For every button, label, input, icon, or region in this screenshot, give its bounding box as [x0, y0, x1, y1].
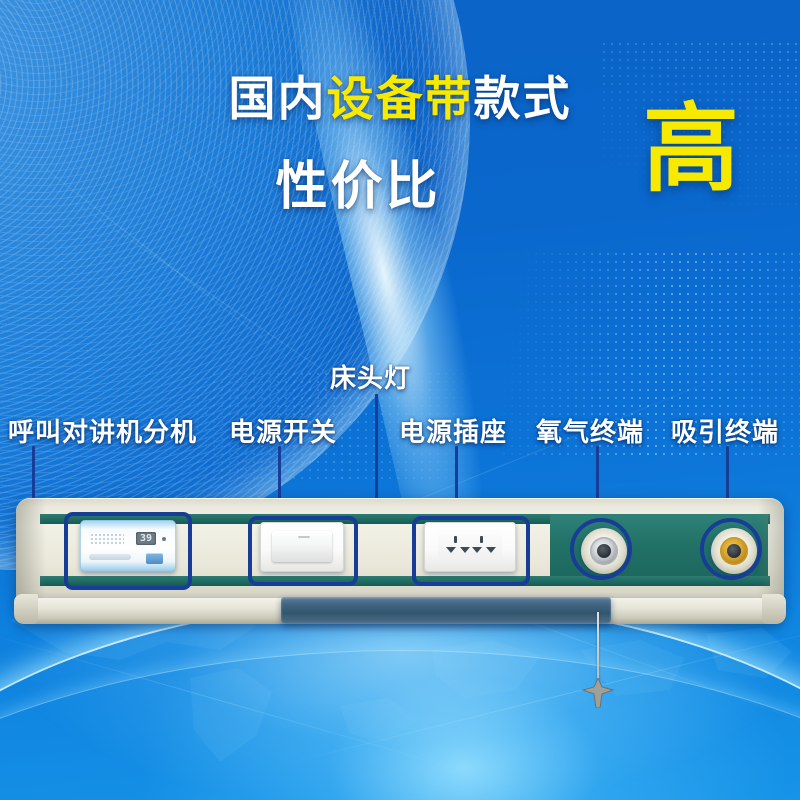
headline-line-2: 性价比 高: [0, 144, 800, 219]
highlight-box-power-socket: [412, 516, 530, 586]
callout-label-power-socket: 电源插座: [399, 412, 507, 449]
panel-edge-left: [16, 498, 46, 604]
callout-label-power-switch: 电源开关: [229, 412, 337, 449]
callout-label-intercom: 呼叫对讲机分机: [8, 412, 197, 449]
highlight-circle-suction: [700, 518, 762, 580]
callout-label-suction-outlet: 吸引终端: [671, 412, 779, 449]
headline-big-character: 高: [643, 102, 742, 198]
hanging-probe-connector: [580, 678, 616, 708]
highlight-circle-oxygen: [570, 518, 632, 580]
panel-endcap-left: [14, 594, 38, 624]
highlight-box-intercom: [64, 512, 192, 590]
headline-block: 国内设备带款式 性价比 高: [0, 72, 800, 219]
callout-label-oxygen-outlet: 氧气终端: [536, 412, 644, 449]
bed-light-diffuser[interactable]: [281, 597, 611, 623]
highlight-box-power-switch: [248, 516, 358, 586]
headline-text-part2: 款式: [474, 72, 572, 125]
hanging-probe-tube: [597, 612, 599, 684]
headline-text-highlight: 设备带: [327, 72, 474, 125]
headline-subtext: 性价比: [275, 144, 440, 219]
callout-label-bed-light: 床头灯: [330, 358, 411, 395]
headline-text-part1: 国内: [229, 72, 327, 125]
product-banner: 国内设备带款式 性价比 高 呼叫对讲机分机 电源开关 床头灯 电源插座 氧气终端…: [0, 0, 800, 800]
panel-endcap-right: [762, 594, 786, 624]
